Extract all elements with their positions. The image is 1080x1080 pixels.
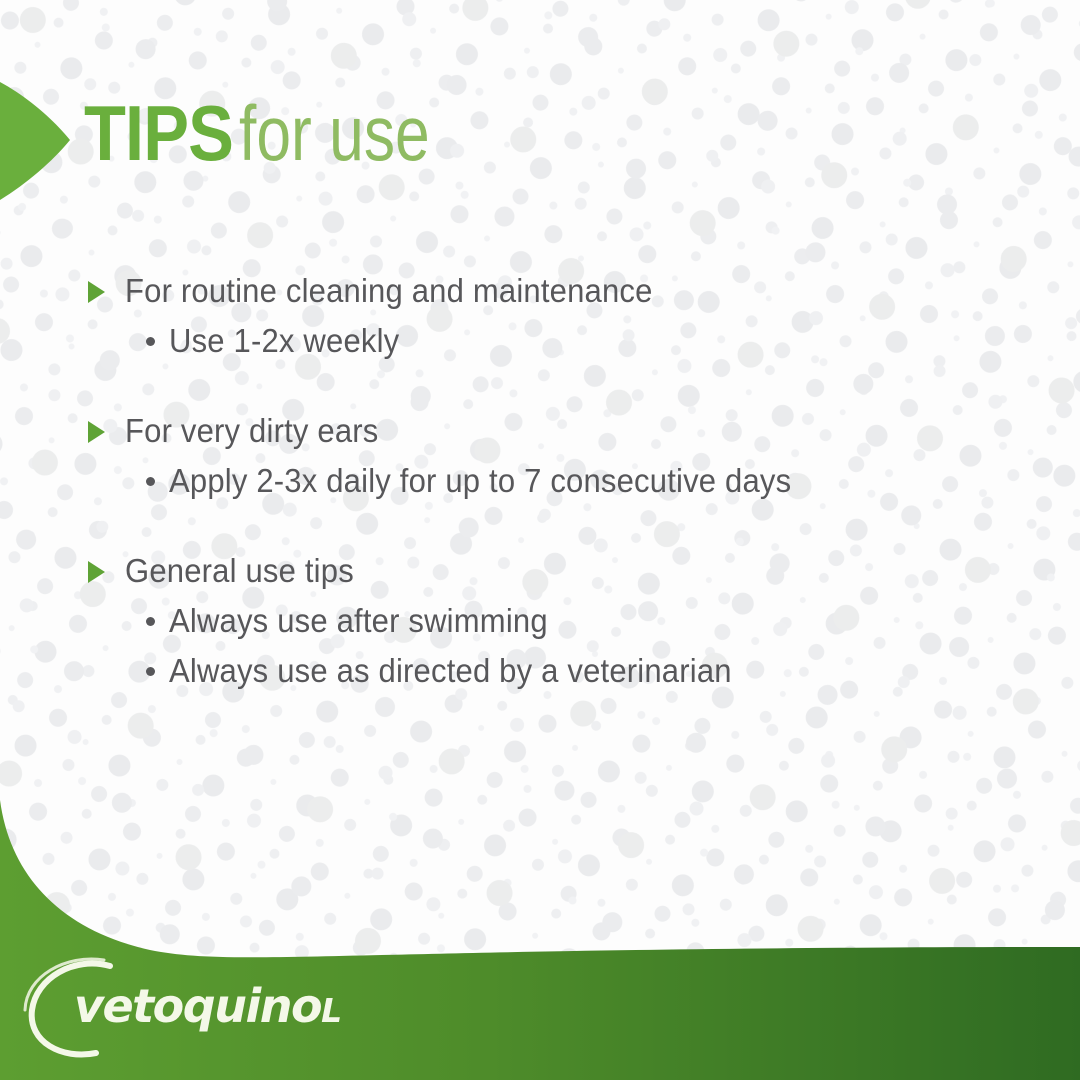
logo-wordmark: vetoquinoL (74, 979, 342, 1033)
tips-sub-list: Use 1-2x weekly (146, 322, 1008, 360)
tips-group-heading-row: For very dirty ears (88, 412, 1008, 450)
tips-group-heading: For routine cleaning and maintenance (125, 272, 653, 310)
tips-group: General use tips Always use after swimmi… (88, 552, 1008, 690)
logo-wordmark-main: vetoquino (74, 979, 321, 1033)
triangle-right-icon (88, 421, 105, 443)
list-item: Use 1-2x weekly (146, 322, 1008, 360)
tips-group-heading: For very dirty ears (125, 412, 379, 450)
tips-sub-list: Apply 2-3x daily for up to 7 consecutive… (146, 462, 1008, 500)
dot-bullet-icon (146, 337, 155, 346)
triangle-right-icon (88, 281, 105, 303)
dot-bullet-icon (146, 477, 155, 486)
list-item-label: Use 1-2x weekly (169, 322, 399, 360)
logo-wordmark-tail: L (321, 991, 342, 1030)
page-title-light: for use (239, 94, 430, 172)
tips-group-heading: General use tips (125, 552, 354, 590)
triangle-right-icon (88, 561, 105, 583)
list-item-label: Always use as directed by a veterinarian (169, 652, 732, 690)
tips-group-heading-row: For routine cleaning and maintenance (88, 272, 1008, 310)
dot-bullet-icon (146, 667, 155, 676)
tips-group: For very dirty ears Apply 2-3x daily for… (88, 412, 1008, 500)
list-item: Always use as directed by a veterinarian (146, 652, 1008, 690)
list-item: Apply 2-3x daily for up to 7 consecutive… (146, 462, 1008, 500)
list-item-label: Apply 2-3x daily for up to 7 consecutive… (169, 462, 791, 500)
tips-list: For routine cleaning and maintenance Use… (88, 272, 1008, 690)
dot-bullet-icon (146, 617, 155, 626)
tips-group-heading-row: General use tips (88, 552, 1008, 590)
tips-sub-list: Always use after swimming Always use as … (146, 602, 1008, 690)
vetoquinol-logo: vetoquinoL (22, 952, 322, 1062)
list-item: Always use after swimming (146, 602, 1008, 640)
slide-canvas: TIPSfor use For routine cleaning and mai… (0, 0, 1080, 1080)
list-item-label: Always use after swimming (169, 602, 548, 640)
page-title-strong: TIPS (84, 94, 233, 172)
page-title: TIPSfor use (84, 94, 478, 172)
tips-group: For routine cleaning and maintenance Use… (88, 272, 1008, 360)
green-arrow-corner-icon (0, 82, 72, 200)
